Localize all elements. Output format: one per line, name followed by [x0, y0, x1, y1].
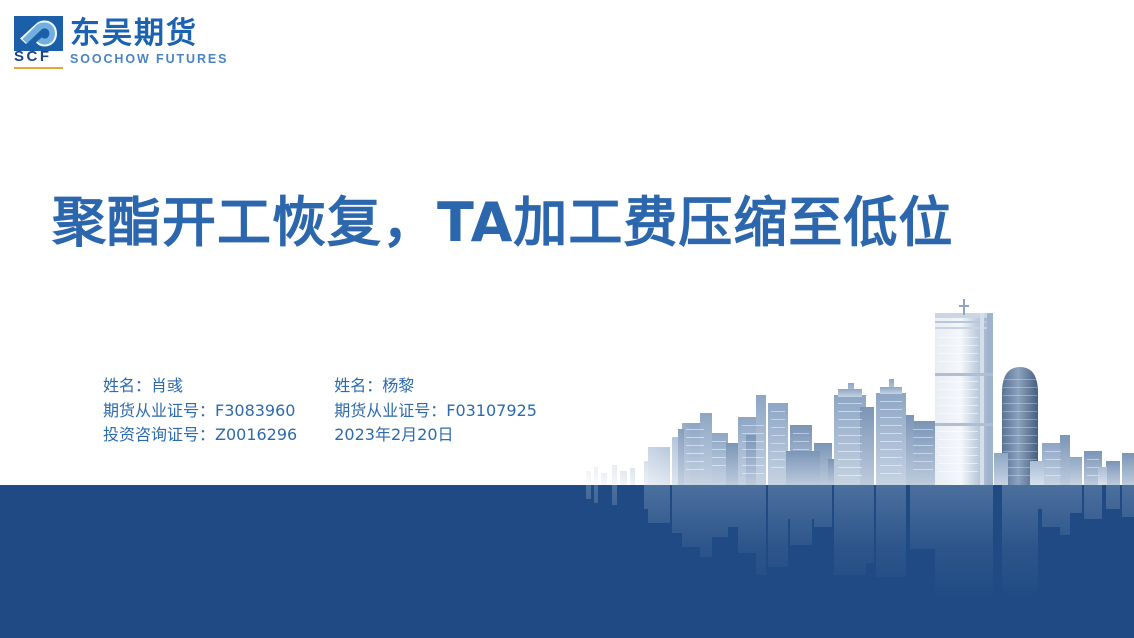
city-skyline-illustration [560, 275, 1134, 485]
reflection-fade-overlay [560, 485, 1134, 600]
soochow-futures-logo-mark: SCF [14, 16, 63, 73]
author-info-block: 姓名：肖彧 期货从业证号：F3083960 投资咨询证号：Z0016296 姓名… [103, 374, 537, 448]
author-futures-license-1: 期货从业证号：F3083960 [103, 399, 297, 424]
author-column-2: 姓名：杨黎 期货从业证号：F03107925 2023年2月20日 [334, 374, 537, 448]
author-name-2: 姓名：杨黎 [334, 374, 537, 399]
presentation-slide: SCF 东吴期货 SOOCHOW FUTURES 聚酯开工恢复，TA加工费压缩至… [0, 0, 1134, 638]
author-advisory-license-1: 投资咨询证号：Z0016296 [103, 423, 297, 448]
company-logo: SCF 东吴期货 SOOCHOW FUTURES [14, 16, 228, 73]
report-date: 2023年2月20日 [334, 423, 537, 448]
logo-orange-underline [14, 67, 63, 69]
logo-abbreviation: SCF [14, 49, 63, 65]
logo-square-icon [14, 16, 63, 51]
page-title: 聚酯开工恢复，TA加工费压缩至低位 [52, 191, 953, 255]
logo-wordmark: 东吴期货 SOOCHOW FUTURES [70, 16, 228, 67]
author-futures-license-2: 期货从业证号：F03107925 [334, 399, 537, 424]
author-name-1: 姓名：肖彧 [103, 374, 297, 399]
company-name-en: SOOCHOW FUTURES [70, 52, 228, 67]
company-name-cn: 东吴期货 [70, 17, 228, 51]
author-column-1: 姓名：肖彧 期货从业证号：F3083960 投资咨询证号：Z0016296 [103, 374, 297, 448]
